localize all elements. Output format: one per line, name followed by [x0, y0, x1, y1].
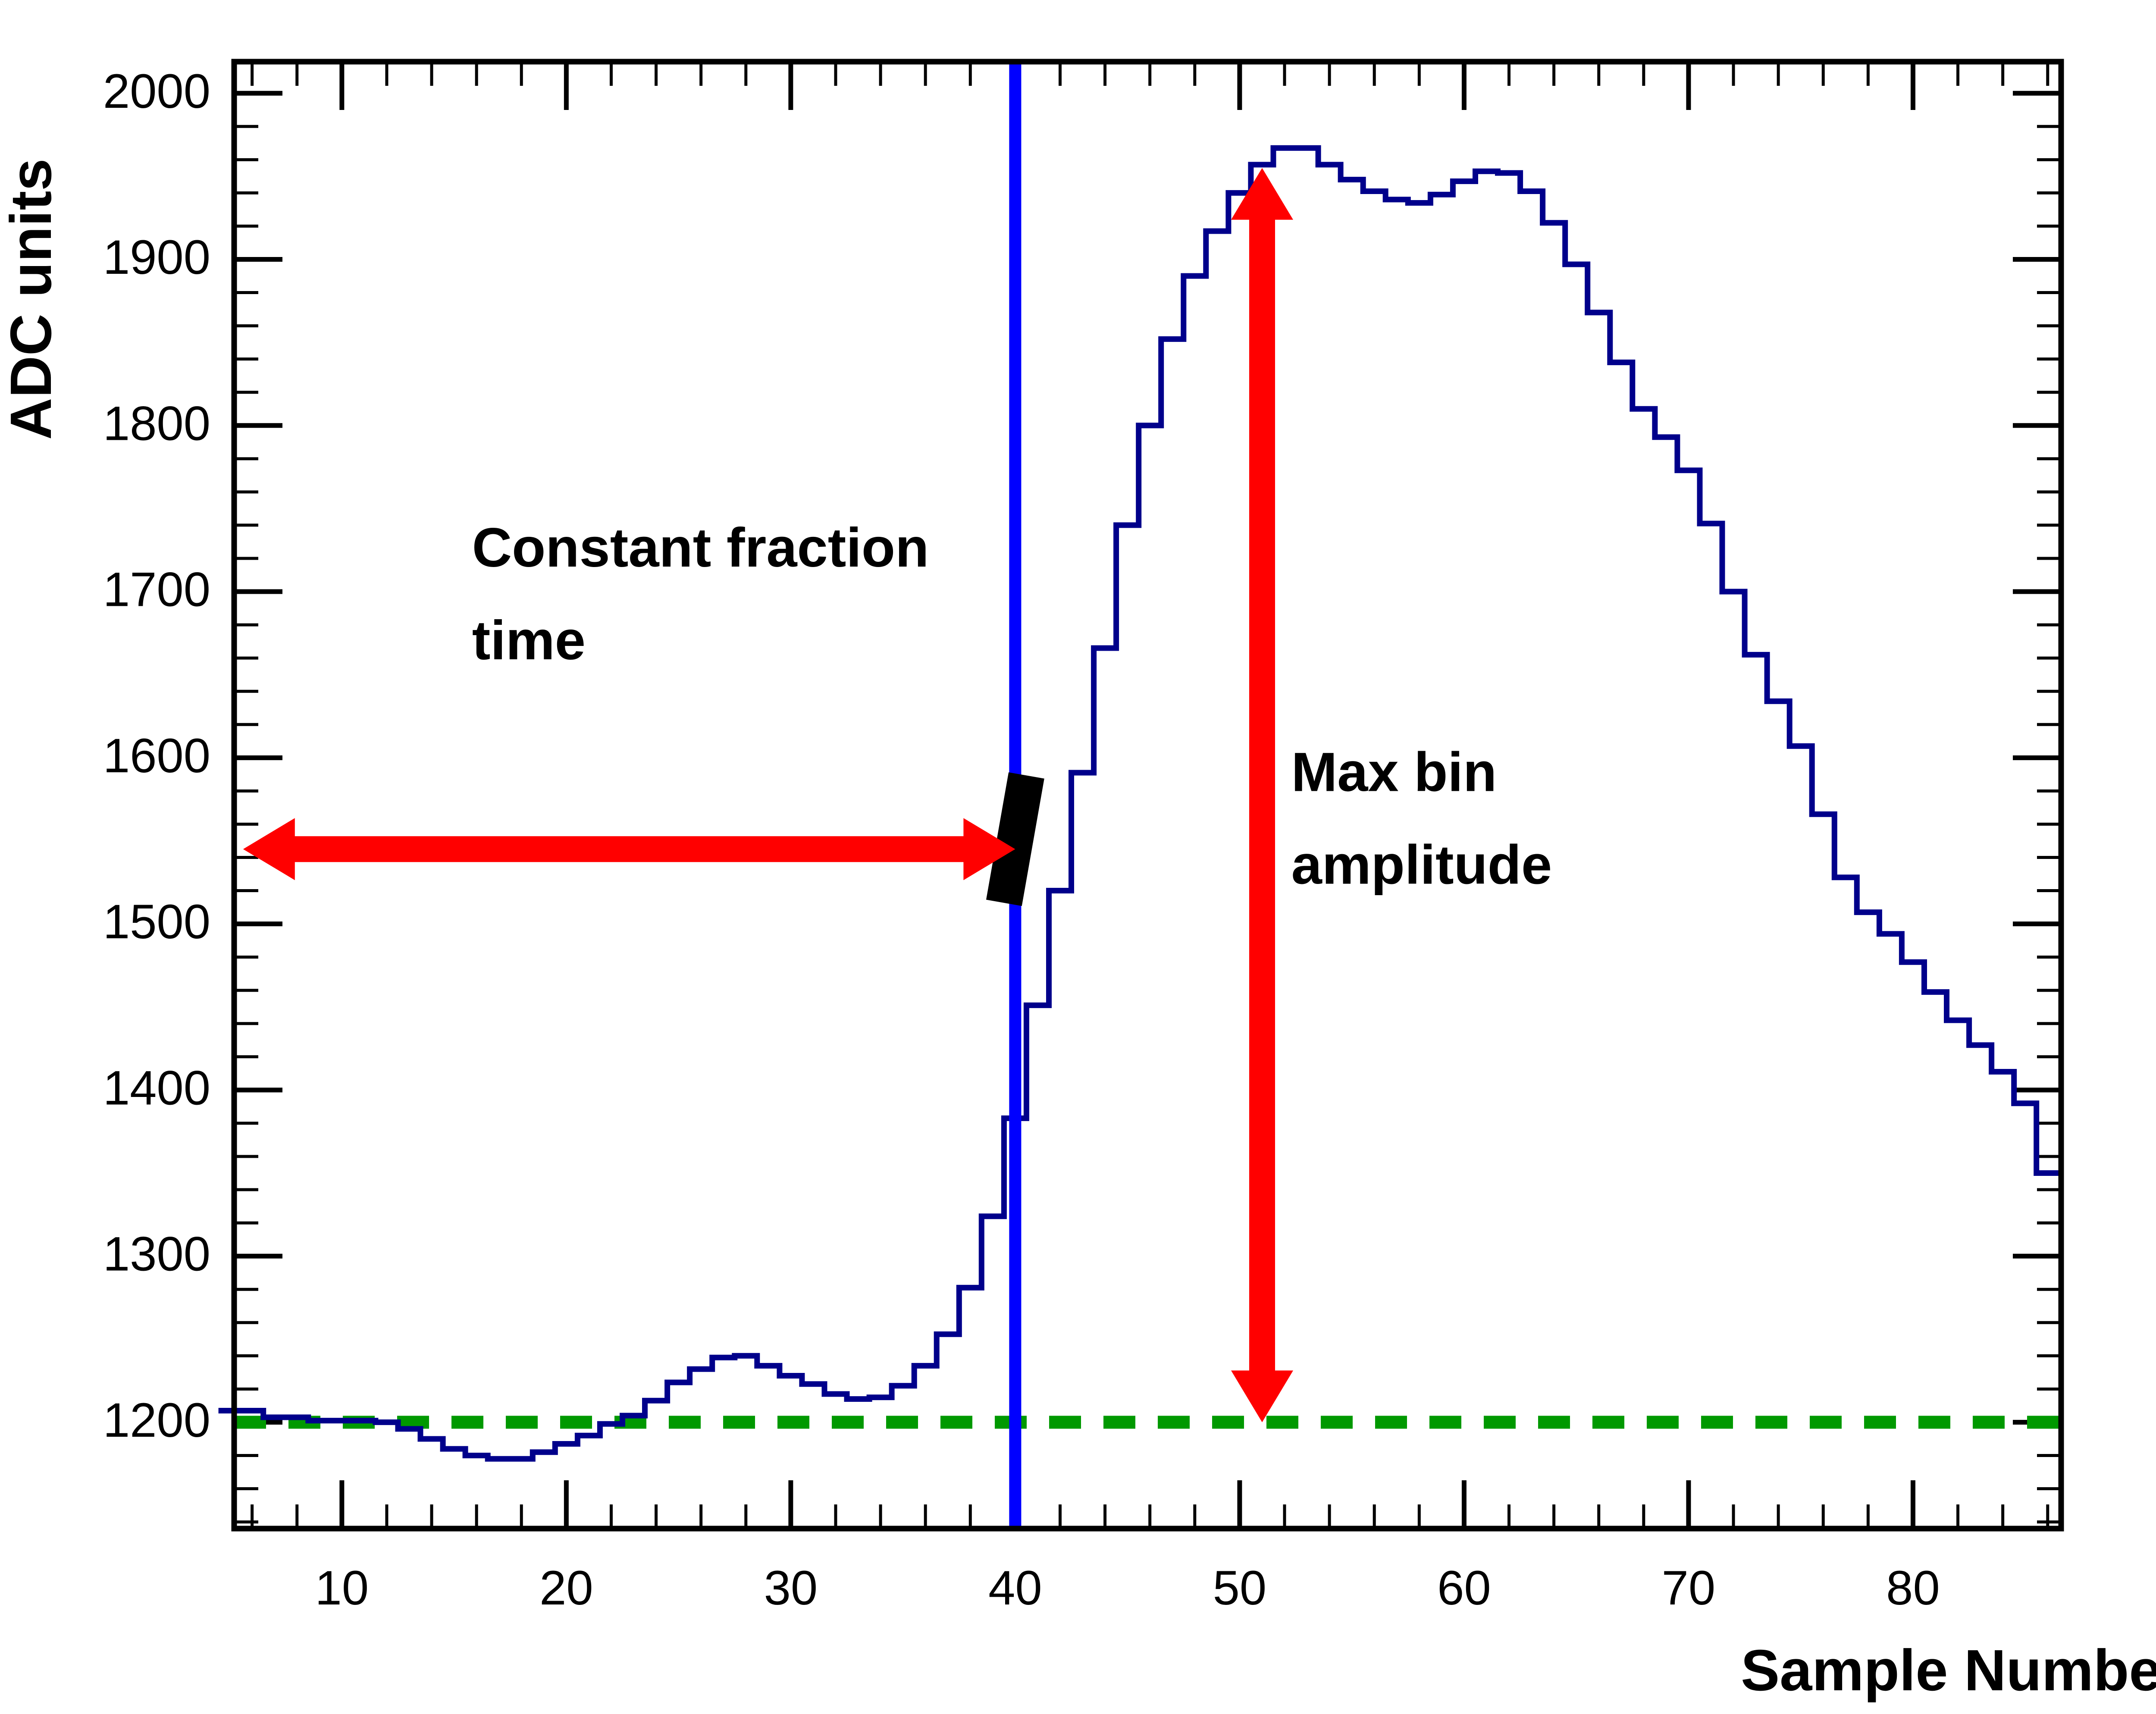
adc-waveform-chart: 120013001400150016001700180019002000 102…: [0, 0, 2156, 1714]
y-tick-label: 1500: [103, 895, 210, 949]
y-tick-label: 2000: [103, 64, 210, 118]
y-tick-label: 1800: [103, 396, 210, 450]
max-bin-amplitude-label: amplitude: [1291, 834, 1552, 896]
y-tick-label: 1400: [103, 1061, 210, 1115]
x-tick-label: 50: [1213, 1561, 1267, 1615]
y-tick-label: 1900: [103, 230, 210, 284]
x-tick-label: 10: [315, 1561, 369, 1615]
y-axis-tick-labels: 120013001400150016001700180019002000: [103, 64, 210, 1447]
max-bin-amplitude-label: Max bin: [1291, 741, 1497, 803]
y-tick-label: 1700: [103, 563, 210, 617]
y-tick-label: 1300: [103, 1227, 210, 1281]
constant-fraction-time-label: Constant fraction: [472, 517, 929, 579]
x-tick-label: 80: [1886, 1561, 1940, 1615]
x-tick-label: 60: [1437, 1561, 1491, 1615]
x-tick-label: 20: [539, 1561, 593, 1615]
chart-canvas: 120013001400150016001700180019002000 102…: [0, 0, 2156, 1714]
y-tick-label: 1600: [103, 729, 210, 783]
y-axis-title: ADC units: [0, 159, 63, 440]
x-tick-label: 40: [988, 1561, 1042, 1615]
x-tick-label: 30: [764, 1561, 818, 1615]
y-tick-label: 1200: [103, 1393, 210, 1447]
x-tick-label: 70: [1662, 1561, 1716, 1615]
x-axis-title: Sample Number: [1741, 1638, 2156, 1703]
constant-fraction-time-label: time: [472, 610, 586, 671]
